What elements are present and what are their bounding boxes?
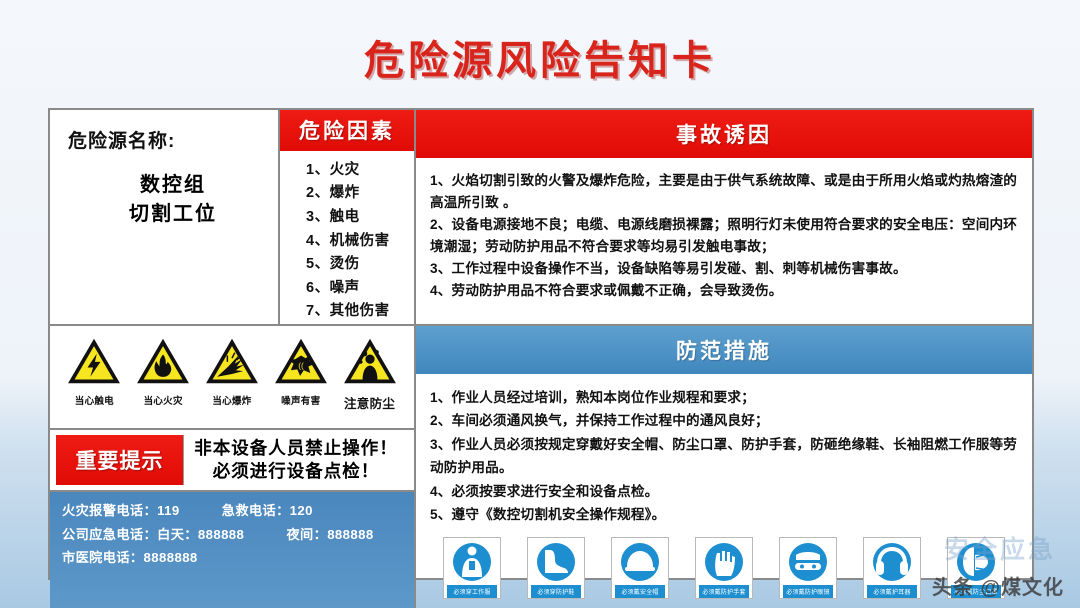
wear-dust-mask-icon: [953, 541, 999, 583]
ppe-sign-caption: 必须戴防护眼镜: [783, 585, 833, 598]
wear-gloves-icon: [701, 541, 747, 583]
ppe-sign-caption: 必须戴安全帽: [615, 585, 665, 598]
explosion-warning-icon: [204, 336, 260, 386]
list-item: 1、火灾: [306, 159, 414, 183]
ppe-sign-item: 必须戴防尘口罩: [947, 537, 1005, 599]
card-top-section: 危险源名称: 数控组 切割工位 危险因素 1、火灾 2、爆炸 3、触电 4、机械…: [50, 110, 1032, 324]
warning-sign-caption: 注意防尘: [337, 393, 403, 412]
hazard-factors-list: 1、火灾 2、爆炸 3、触电 4、机械伤害 5、烫伤 6、噪声 7、其他伤害: [280, 151, 414, 324]
accident-causes-cell: 事故诱因 1、火焰切割引致的火警及爆炸危险，主要是由于供气系统故障、或是由于所用…: [414, 110, 1032, 324]
ppe-sign-item: 必须戴安全帽: [611, 537, 669, 599]
list-item: 2、设备电源接地不良；电缆、电源线磨损裸露；照明行灯未使用符合要求的安全电压：空…: [430, 214, 1018, 258]
list-item: 5、遵守《数控切割机安全操作规程》。: [430, 503, 1018, 526]
wear-work-clothes-icon: [449, 541, 495, 583]
warning-sign-item: 当心爆炸: [199, 336, 265, 407]
list-item: 5、烫伤: [306, 253, 414, 277]
ppe-sign-item: 必须穿工作服: [443, 537, 501, 599]
warning-signs-row: 当心触电 当心火灾: [50, 326, 414, 430]
notice-line2: 必须进行设备点检！: [213, 460, 380, 483]
hazard-factors-header: 危险因素: [280, 110, 414, 151]
important-notice-text: 非本设备人员禁止操作！ 必须进行设备点检！: [183, 435, 408, 485]
ppe-sign-caption: 必须穿工作服: [447, 585, 497, 598]
ppe-sign-item: 必须戴防护手套: [695, 537, 753, 599]
risk-notice-card: 危险源名称: 数控组 切割工位 危险因素 1、火灾 2、爆炸 3、触电 4、机械…: [48, 108, 1034, 580]
warning-sign-item: (( 噪声有害: [268, 336, 334, 407]
fire-warning-icon: [135, 336, 191, 386]
warning-sign-caption: 噪声有害: [268, 393, 334, 407]
left-bottom-column: 当心触电 当心火灾: [50, 326, 414, 608]
list-item: 3、作业人员必须按规定穿戴好安全帽、防尘口罩、防护手套，防砸绝缘鞋、长袖阻燃工作…: [430, 433, 1018, 480]
warning-sign-item: 当心触电: [61, 336, 127, 407]
emergency-contacts-block: 火灾报警电话：119 急救电话：120 公司应急电话：白天：888888 夜间：…: [50, 492, 414, 608]
list-item: 2、爆炸: [306, 182, 414, 206]
contact-line-hospital: 市医院电话：8888888: [62, 546, 414, 570]
ppe-sign-caption: 必须戴防尘口罩: [951, 585, 1001, 598]
warning-sign-item: 注意防尘: [337, 336, 403, 412]
list-item: 6、噪声: [306, 277, 414, 301]
noise-warning-icon: ((: [273, 336, 329, 386]
svg-text:((: ((: [298, 360, 304, 370]
page-title: 危险源风险告知卡: [0, 28, 1080, 86]
ppe-sign-caption: 必须戴护耳器: [867, 585, 917, 598]
list-item: 1、火焰切割引致的火警及爆炸危险，主要是由于供气系统故障、或是由于所用火焰或灼热…: [430, 170, 1018, 214]
wear-safety-helmet-icon: [617, 541, 663, 583]
ppe-sign-item: 必须穿防护鞋: [527, 537, 585, 599]
wear-safety-shoes-icon: [533, 541, 579, 583]
mandatory-ppe-signs-row: 必须穿工作服 必须穿防护鞋: [416, 526, 1032, 608]
ambulance-phone-label: 急救电话：120: [222, 503, 313, 518]
important-notice-badge: 重要提示: [56, 435, 183, 485]
contact-line-fire: 火灾报警电话：119 急救电话：120: [62, 499, 414, 523]
dust-warning-icon: [342, 336, 398, 386]
ppe-sign-item: 必须戴护耳器: [863, 537, 921, 599]
wear-goggles-icon: [785, 541, 831, 583]
electric-shock-warning-icon: [66, 336, 122, 386]
warning-sign-caption: 当心触电: [61, 393, 127, 407]
prevention-measures-body: 1、作业人员经过培训，熟知本岗位作业规程和要求； 2、车间必须通风换气，并保持工…: [416, 374, 1032, 526]
hazard-name-value: 数控组 切割工位: [68, 171, 278, 229]
hospital-phone-label: 市医院电话：8888888: [62, 550, 198, 565]
notice-line1: 非本设备人员禁止操作！: [194, 437, 398, 460]
hazard-name-line1: 数控组: [68, 171, 278, 200]
accident-causes-header: 事故诱因: [416, 110, 1032, 158]
warning-sign-item: 当心火灾: [130, 336, 196, 407]
list-item: 7、其他伤害: [306, 300, 414, 324]
company-phone-label: 公司应急电话：白天：888888: [62, 527, 244, 542]
list-item: 2、车间必须通风换气，并保持工作过程中的通风良好；: [430, 409, 1018, 432]
card-bottom-section: 当心触电 当心火灾: [50, 324, 1032, 608]
accident-causes-body: 1、火焰切割引致的火警及爆炸危险，主要是由于供气系统故障、或是由于所用火焰或灼热…: [416, 158, 1032, 302]
ppe-sign-item: 必须戴防护眼镜: [779, 537, 837, 599]
wear-ear-protection-icon: [869, 541, 915, 583]
hazard-factors-cell: 危险因素 1、火灾 2、爆炸 3、触电 4、机械伤害 5、烫伤 6、噪声 7、其…: [280, 110, 414, 324]
hazard-name-cell: 危险源名称: 数控组 切割工位: [50, 110, 280, 324]
list-item: 4、机械伤害: [306, 230, 414, 254]
prevention-measures-header: 防范措施: [416, 326, 1032, 374]
contact-line-company: 公司应急电话：白天：888888 夜间：888888: [62, 523, 414, 547]
list-item: 4、必须按要求进行安全和设备点检。: [430, 480, 1018, 503]
company-night-phone-label: 夜间：888888: [286, 527, 373, 542]
fire-phone-label: 火灾报警电话：119: [62, 503, 180, 518]
ppe-sign-caption: 必须穿防护鞋: [531, 585, 581, 598]
left-top-column: 危险源名称: 数控组 切割工位 危险因素 1、火灾 2、爆炸 3、触电 4、机械…: [50, 110, 414, 324]
list-item: 3、工作过程中设备操作不当，设备缺陷等易引发碰、割、刺等机械伤害事故。: [430, 258, 1018, 280]
hazard-name-line2: 切割工位: [68, 200, 278, 229]
important-notice-row: 重要提示 非本设备人员禁止操作！ 必须进行设备点检！: [50, 430, 414, 492]
prevention-measures-cell: 防范措施 1、作业人员经过培训，熟知本岗位作业规程和要求； 2、车间必须通风换气…: [414, 326, 1032, 608]
warning-sign-caption: 当心火灾: [130, 393, 196, 407]
warning-sign-caption: 当心爆炸: [199, 393, 265, 407]
list-item: 4、劳动防护用品不符合要求或佩戴不正确，会导致烫伤。: [430, 280, 1018, 302]
hazard-name-label: 危险源名称:: [68, 126, 278, 153]
list-item: 1、作业人员经过培训，熟知本岗位作业规程和要求；: [430, 386, 1018, 409]
ppe-sign-caption: 必须戴防护手套: [699, 585, 749, 598]
list-item: 3、触电: [306, 206, 414, 230]
